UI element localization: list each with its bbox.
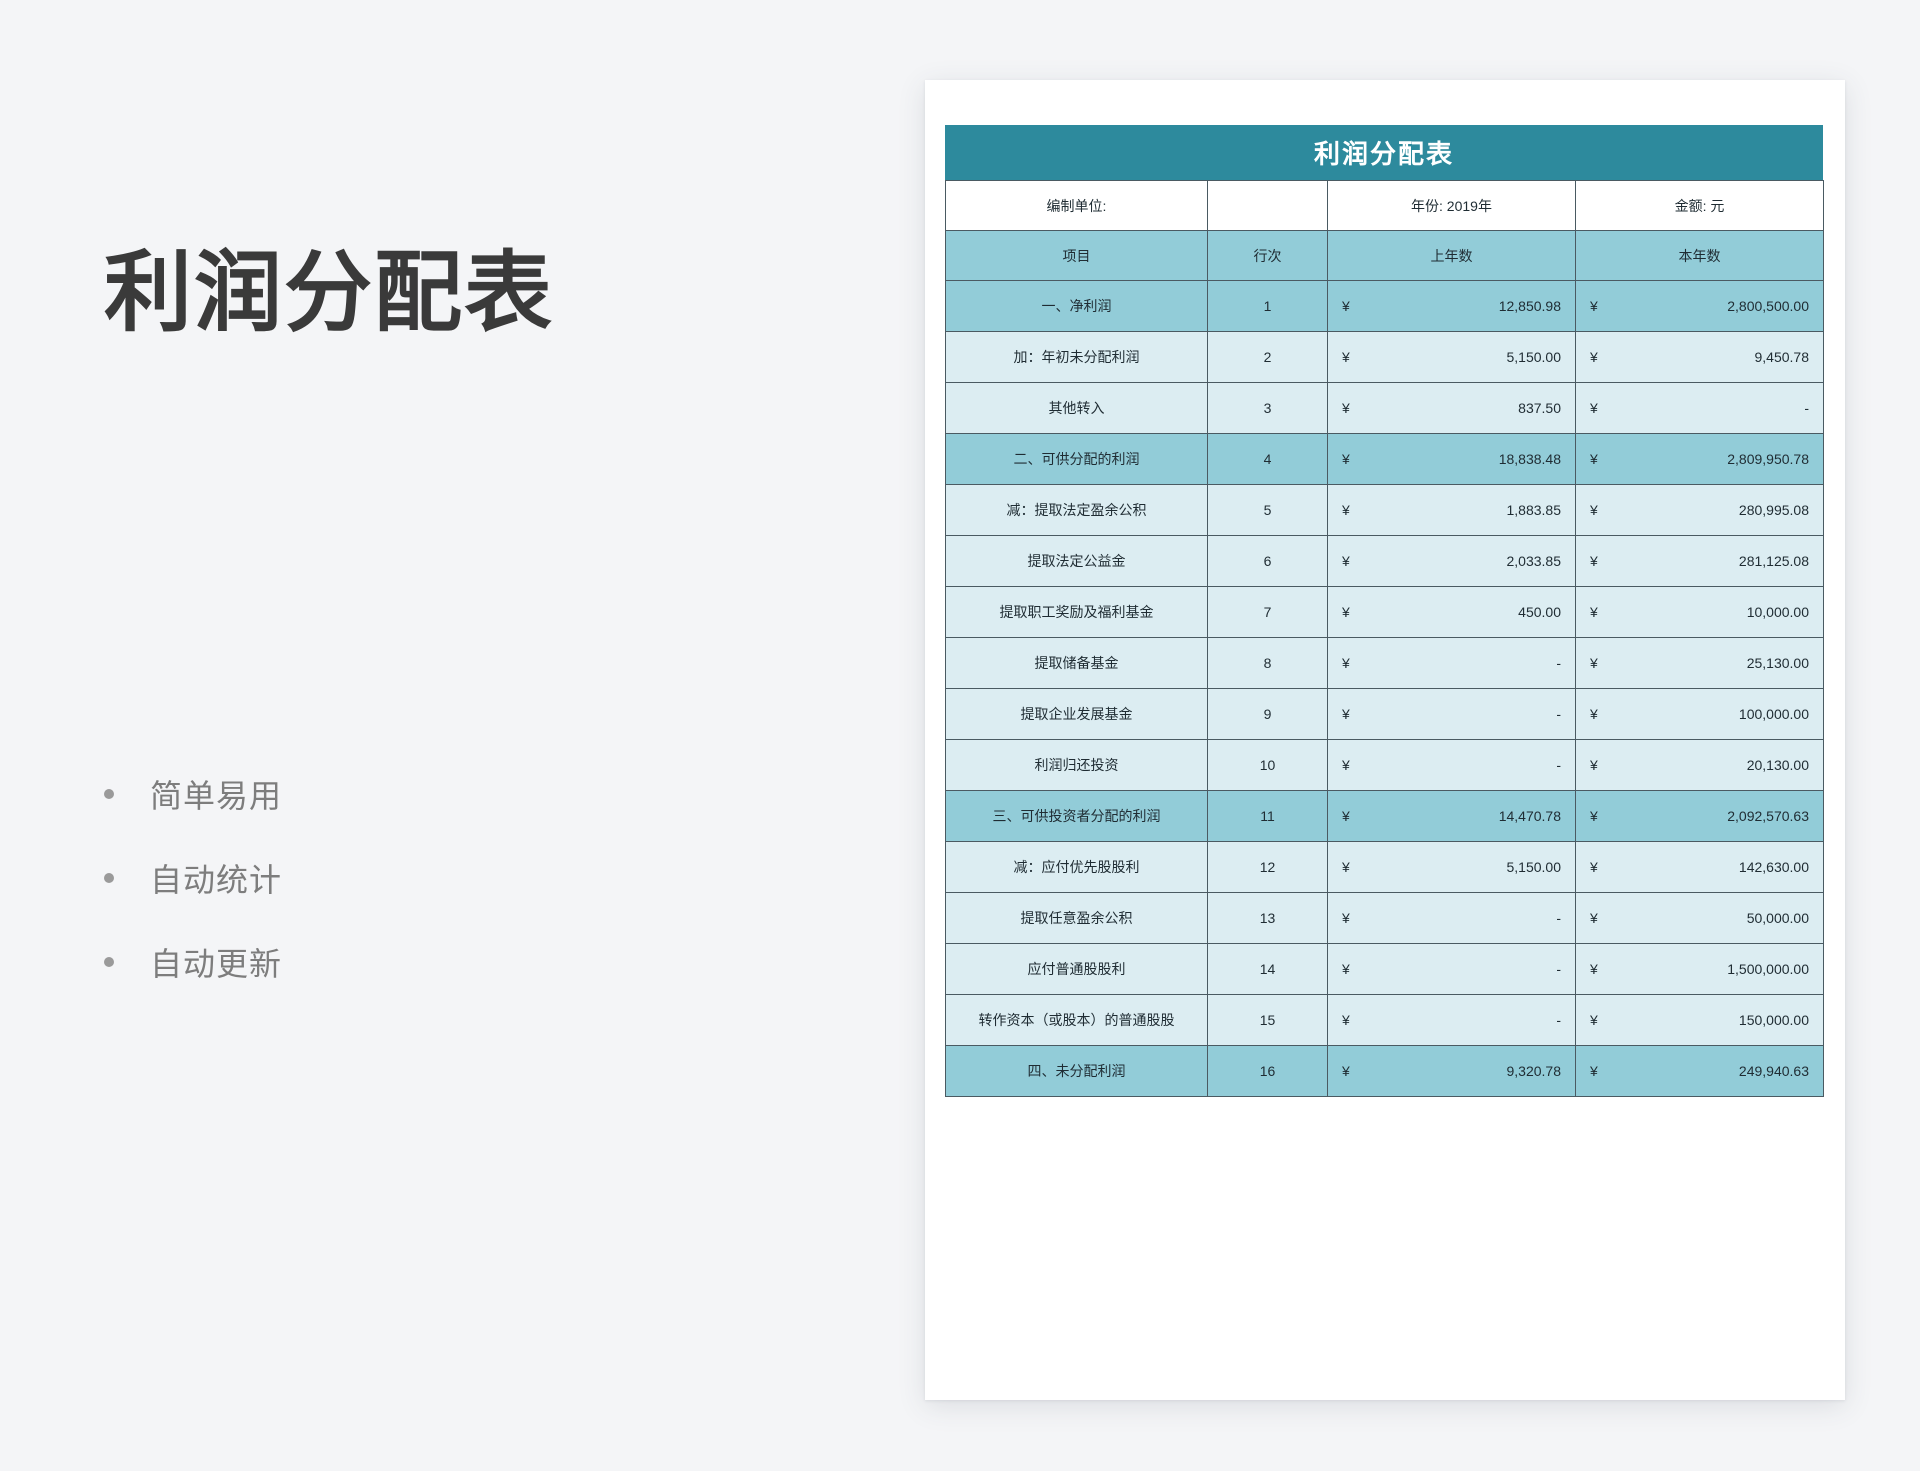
cell-line-number: 2 (1208, 332, 1328, 383)
cell-curr-year-amount: ¥142,630.00 (1576, 842, 1824, 893)
currency-symbol: ¥ (1590, 706, 1598, 722)
cell-curr-year-amount: ¥10,000.00 (1576, 587, 1824, 638)
cell-amount: 25,130.00 (1592, 638, 1809, 688)
cell-prev-year-amount: ¥- (1328, 740, 1576, 791)
cell-prev-year-amount: ¥18,838.48 (1328, 434, 1576, 485)
column-header-item: 项目 (946, 231, 1208, 281)
cell-amount: 2,033.85 (1344, 536, 1561, 586)
cell-item-label: 利润归还投资 (946, 740, 1208, 791)
cell-item-label: 提取企业发展基金 (946, 689, 1208, 740)
cell-amount: 450.00 (1344, 587, 1561, 637)
cell-curr-year-amount: ¥280,995.08 (1576, 485, 1824, 536)
cell-prev-year-amount: ¥5,150.00 (1328, 332, 1576, 383)
cell-line-number: 10 (1208, 740, 1328, 791)
info-cell-unit: 编制单位: (946, 181, 1208, 231)
currency-symbol: ¥ (1342, 349, 1350, 365)
cell-curr-year-amount: ¥2,800,500.00 (1576, 281, 1824, 332)
cell-prev-year-amount: ¥14,470.78 (1328, 791, 1576, 842)
cell-amount: 20,130.00 (1592, 740, 1809, 790)
document-preview-card: 利润分配表 编制单位: 年份: 2019年 金额: 元 项 (925, 80, 1845, 1400)
list-item: 自动统计 (104, 836, 524, 920)
currency-symbol: ¥ (1590, 757, 1598, 773)
table-row: 应付普通股股利14¥-¥1,500,000.00 (946, 944, 1824, 995)
cell-item-label: 提取储备基金 (946, 638, 1208, 689)
table-row: 减：应付优先股股利12¥5,150.00¥142,630.00 (946, 842, 1824, 893)
cell-prev-year-amount: ¥1,883.85 (1328, 485, 1576, 536)
cell-line-number: 5 (1208, 485, 1328, 536)
cell-amount: 12,850.98 (1344, 281, 1561, 331)
cell-item-label: 提取职工奖励及福利基金 (946, 587, 1208, 638)
feature-label: 自动更新 (150, 939, 282, 985)
cell-item-label: 减：应付优先股股利 (946, 842, 1208, 893)
table-body: 编制单位: 年份: 2019年 金额: 元 项目 行次 上年数 本年数 一、净利… (946, 181, 1824, 1097)
currency-symbol: ¥ (1342, 655, 1350, 671)
cell-line-number: 4 (1208, 434, 1328, 485)
currency-symbol: ¥ (1590, 400, 1598, 416)
cell-prev-year-amount: ¥12,850.98 (1328, 281, 1576, 332)
currency-symbol: ¥ (1590, 910, 1598, 926)
cell-curr-year-amount: ¥2,092,570.63 (1576, 791, 1824, 842)
sheet-title-text: 利润分配表 (1314, 134, 1454, 171)
table-header-row: 项目 行次 上年数 本年数 (946, 231, 1824, 281)
cell-curr-year-amount: ¥2,809,950.78 (1576, 434, 1824, 485)
column-header-prev-year: 上年数 (1328, 231, 1576, 281)
cell-amount: - (1344, 995, 1561, 1045)
feature-label: 简单易用 (150, 771, 282, 817)
currency-symbol: ¥ (1342, 553, 1350, 569)
cell-prev-year-amount: ¥- (1328, 995, 1576, 1046)
currency-symbol: ¥ (1590, 1063, 1598, 1079)
cell-line-number: 8 (1208, 638, 1328, 689)
currency-symbol: ¥ (1342, 400, 1350, 416)
currency-symbol: ¥ (1342, 757, 1350, 773)
table-row: 提取职工奖励及福利基金7¥450.00¥10,000.00 (946, 587, 1824, 638)
cell-amount: - (1344, 893, 1561, 943)
cell-line-number: 6 (1208, 536, 1328, 587)
cell-amount: 2,092,570.63 (1592, 791, 1809, 841)
cell-line-number: 7 (1208, 587, 1328, 638)
currency-symbol: ¥ (1342, 859, 1350, 875)
cell-line-number: 16 (1208, 1046, 1328, 1097)
cell-item-label: 加：年初未分配利润 (946, 332, 1208, 383)
cell-amount: 150,000.00 (1592, 995, 1809, 1045)
currency-symbol: ¥ (1342, 298, 1350, 314)
currency-symbol: ¥ (1590, 349, 1598, 365)
cell-amount: 142,630.00 (1592, 842, 1809, 892)
cell-amount: - (1592, 383, 1809, 433)
cell-curr-year-amount: ¥1,500,000.00 (1576, 944, 1824, 995)
currency-symbol: ¥ (1590, 502, 1598, 518)
cell-line-number: 11 (1208, 791, 1328, 842)
cell-item-label: 减：提取法定盈余公积 (946, 485, 1208, 536)
cell-curr-year-amount: ¥9,450.78 (1576, 332, 1824, 383)
column-header-curr-year: 本年数 (1576, 231, 1824, 281)
currency-symbol: ¥ (1342, 604, 1350, 620)
cell-item-label: 其他转入 (946, 383, 1208, 434)
currency-symbol: ¥ (1342, 1012, 1350, 1028)
currency-symbol: ¥ (1590, 451, 1598, 467)
cell-curr-year-amount: ¥25,130.00 (1576, 638, 1824, 689)
cell-amount: 5,150.00 (1344, 332, 1561, 382)
table-row: 提取任意盈余公积13¥-¥50,000.00 (946, 893, 1824, 944)
cell-item-label: 提取法定公益金 (946, 536, 1208, 587)
cell-amount: - (1344, 944, 1561, 994)
cell-amount: 249,940.63 (1592, 1046, 1809, 1096)
cell-item-label: 三、可供投资者分配的利润 (946, 791, 1208, 842)
cell-amount: - (1344, 689, 1561, 739)
cell-curr-year-amount: ¥20,130.00 (1576, 740, 1824, 791)
cell-amount: 1,883.85 (1344, 485, 1561, 535)
cell-item-label: 一、净利润 (946, 281, 1208, 332)
cell-curr-year-amount: ¥50,000.00 (1576, 893, 1824, 944)
currency-symbol: ¥ (1590, 808, 1598, 824)
currency-symbol: ¥ (1342, 502, 1350, 518)
cell-line-number: 14 (1208, 944, 1328, 995)
cell-amount: 837.50 (1344, 383, 1561, 433)
table-row: 利润归还投资10¥-¥20,130.00 (946, 740, 1824, 791)
info-cell-amount-unit: 金额: 元 (1576, 181, 1824, 231)
currency-symbol: ¥ (1342, 1063, 1350, 1079)
cell-amount: 5,150.00 (1344, 842, 1561, 892)
cell-prev-year-amount: ¥5,150.00 (1328, 842, 1576, 893)
table-row: 加：年初未分配利润2¥5,150.00¥9,450.78 (946, 332, 1824, 383)
cell-item-label: 二、可供分配的利润 (946, 434, 1208, 485)
cell-prev-year-amount: ¥450.00 (1328, 587, 1576, 638)
cell-item-label: 转作资本（或股本）的普通股股 (946, 995, 1208, 1046)
feature-label: 自动统计 (150, 855, 282, 901)
list-item: 简单易用 (104, 752, 524, 836)
cell-line-number: 9 (1208, 689, 1328, 740)
cell-amount: 281,125.08 (1592, 536, 1809, 586)
list-item: 自动更新 (104, 920, 524, 1004)
currency-symbol: ¥ (1342, 808, 1350, 824)
bullet-icon (104, 873, 114, 883)
cell-amount: 100,000.00 (1592, 689, 1809, 739)
cell-curr-year-amount: ¥249,940.63 (1576, 1046, 1824, 1097)
cell-line-number: 1 (1208, 281, 1328, 332)
spreadsheet: 利润分配表 编制单位: 年份: 2019年 金额: 元 项 (945, 125, 1823, 1097)
currency-symbol: ¥ (1342, 451, 1350, 467)
cell-amount: 1,500,000.00 (1592, 944, 1809, 994)
currency-symbol: ¥ (1590, 553, 1598, 569)
bullet-icon (104, 957, 114, 967)
cell-line-number: 13 (1208, 893, 1328, 944)
currency-symbol: ¥ (1590, 655, 1598, 671)
cell-line-number: 3 (1208, 383, 1328, 434)
cell-line-number: 15 (1208, 995, 1328, 1046)
cell-item-label: 应付普通股股利 (946, 944, 1208, 995)
page-title: 利润分配表 (104, 240, 554, 346)
cell-prev-year-amount: ¥- (1328, 893, 1576, 944)
cell-amount: - (1344, 740, 1561, 790)
feature-list: 简单易用 自动统计 自动更新 (104, 752, 524, 1004)
currency-symbol: ¥ (1590, 1012, 1598, 1028)
table-row: 其他转入3¥837.50¥- (946, 383, 1824, 434)
cell-amount: 280,995.08 (1592, 485, 1809, 535)
cell-curr-year-amount: ¥150,000.00 (1576, 995, 1824, 1046)
sheet-title-banner: 利润分配表 (945, 125, 1823, 180)
table-row: 提取企业发展基金9¥-¥100,000.00 (946, 689, 1824, 740)
table-row: 提取法定公益金6¥2,033.85¥281,125.08 (946, 536, 1824, 587)
currency-symbol: ¥ (1590, 604, 1598, 620)
currency-symbol: ¥ (1342, 910, 1350, 926)
table-row: 减：提取法定盈余公积5¥1,883.85¥280,995.08 (946, 485, 1824, 536)
table-row: 二、可供分配的利润4¥18,838.48¥2,809,950.78 (946, 434, 1824, 485)
table-info-row: 编制单位: 年份: 2019年 金额: 元 (946, 181, 1824, 231)
currency-symbol: ¥ (1342, 706, 1350, 722)
cell-curr-year-amount: ¥281,125.08 (1576, 536, 1824, 587)
cell-amount: 18,838.48 (1344, 434, 1561, 484)
cell-prev-year-amount: ¥- (1328, 689, 1576, 740)
cell-prev-year-amount: ¥- (1328, 638, 1576, 689)
table-row: 四、未分配利润16¥9,320.78¥249,940.63 (946, 1046, 1824, 1097)
cell-prev-year-amount: ¥9,320.78 (1328, 1046, 1576, 1097)
cell-amount: 9,450.78 (1592, 332, 1809, 382)
table-row: 三、可供投资者分配的利润11¥14,470.78¥2,092,570.63 (946, 791, 1824, 842)
cell-amount: 2,809,950.78 (1592, 434, 1809, 484)
cell-amount: - (1344, 638, 1561, 688)
table-row: 提取储备基金8¥-¥25,130.00 (946, 638, 1824, 689)
currency-symbol: ¥ (1590, 298, 1598, 314)
cell-prev-year-amount: ¥2,033.85 (1328, 536, 1576, 587)
cell-amount: 9,320.78 (1344, 1046, 1561, 1096)
cell-amount: 2,800,500.00 (1592, 281, 1809, 331)
slide-canvas: 利润分配表 简单易用 自动统计 自动更新 利润分配表 (0, 0, 1920, 1471)
cell-prev-year-amount: ¥- (1328, 944, 1576, 995)
cell-amount: 10,000.00 (1592, 587, 1809, 637)
bullet-icon (104, 789, 114, 799)
info-cell-blank (1208, 181, 1328, 231)
cell-amount: 14,470.78 (1344, 791, 1561, 841)
currency-symbol: ¥ (1590, 961, 1598, 977)
cell-curr-year-amount: ¥100,000.00 (1576, 689, 1824, 740)
column-header-line: 行次 (1208, 231, 1328, 281)
currency-symbol: ¥ (1590, 859, 1598, 875)
left-content-panel: 利润分配表 简单易用 自动统计 自动更新 (0, 0, 760, 1471)
info-cell-year: 年份: 2019年 (1328, 181, 1576, 231)
table-row: 转作资本（或股本）的普通股股15¥-¥150,000.00 (946, 995, 1824, 1046)
cell-item-label: 四、未分配利润 (946, 1046, 1208, 1097)
currency-symbol: ¥ (1342, 961, 1350, 977)
cell-item-label: 提取任意盈余公积 (946, 893, 1208, 944)
cell-amount: 50,000.00 (1592, 893, 1809, 943)
profit-distribution-table: 编制单位: 年份: 2019年 金额: 元 项目 行次 上年数 本年数 一、净利… (945, 180, 1824, 1097)
cell-curr-year-amount: ¥- (1576, 383, 1824, 434)
table-row: 一、净利润1¥12,850.98¥2,800,500.00 (946, 281, 1824, 332)
cell-line-number: 12 (1208, 842, 1328, 893)
cell-prev-year-amount: ¥837.50 (1328, 383, 1576, 434)
